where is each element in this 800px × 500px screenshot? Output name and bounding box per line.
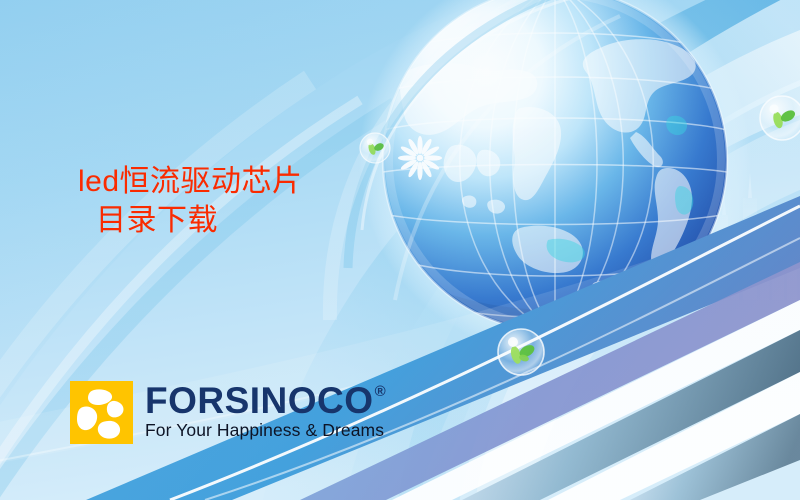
headline-text: led恒流驱动芯片 目录下载 xyxy=(78,162,408,240)
logo-tagline: For Your Happiness & Dreams xyxy=(145,421,386,440)
registered-trademark-symbol: ® xyxy=(375,384,386,399)
company-logo[interactable]: FORSINOCO ® For Your Happiness & Dreams xyxy=(70,381,386,444)
logo-wordmark: FORSINOCO xyxy=(145,382,374,419)
headline-line-2: 目录下载 xyxy=(78,201,408,240)
headline-line-1: led恒流驱动芯片 xyxy=(78,162,408,201)
four-petal-pinwheel-icon xyxy=(70,381,133,444)
promo-banner: led恒流驱动芯片 目录下载 FORSINOCO ® For Your Happ… xyxy=(0,0,800,500)
logo-text-block: FORSINOCO ® For Your Happiness & Dreams xyxy=(145,381,386,440)
logo-wordmark-row: FORSINOCO ® xyxy=(145,382,386,419)
